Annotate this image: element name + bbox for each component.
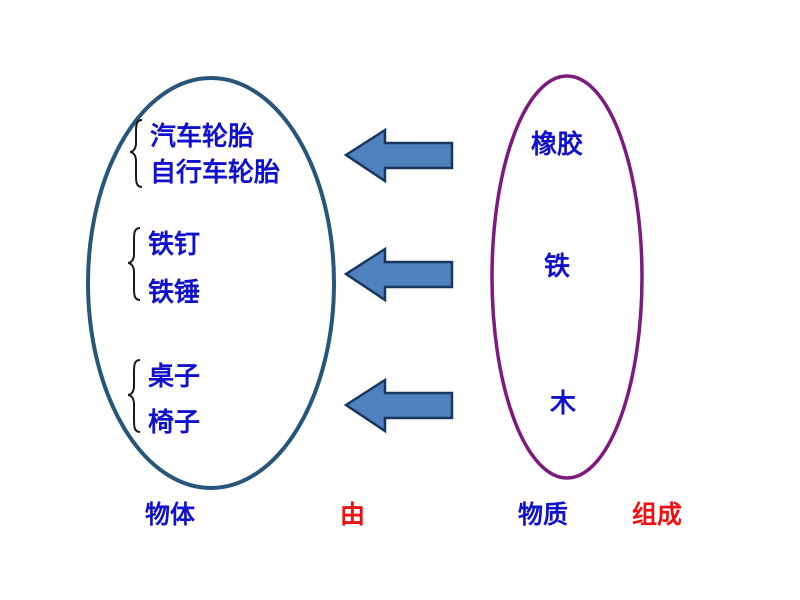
brace-group-3 [128, 360, 140, 432]
arrow-wood-to-furniture [346, 380, 452, 431]
substance-item-wood: 木 [550, 391, 576, 417]
slide-canvas: 汽车轮胎 自行车轮胎 铁钉 铁锤 桌子 椅子 橡胶 铁 木 物体 由 物质 组成 [0, 0, 800, 600]
arrow-rubber-to-tires [346, 130, 452, 181]
caption-substance: 物质 [518, 502, 568, 527]
brace-group-2 [128, 228, 140, 300]
brace-group-1 [130, 120, 142, 187]
object-item-car-tire: 汽车轮胎 [150, 124, 254, 150]
object-item-iron-nail: 铁钉 [148, 232, 200, 258]
object-item-iron-hammer: 铁锤 [148, 280, 200, 306]
object-item-chair: 椅子 [148, 410, 200, 436]
caption-object: 物体 [145, 502, 195, 527]
caption-by: 由 [340, 502, 365, 527]
substance-item-rubber: 橡胶 [531, 132, 583, 158]
arrow-iron-to-tools [346, 249, 452, 300]
object-item-bicycle-tire: 自行车轮胎 [150, 160, 280, 186]
caption-composed-of: 组成 [632, 502, 682, 527]
substance-item-iron: 铁 [544, 254, 570, 280]
object-item-table: 桌子 [148, 364, 200, 390]
